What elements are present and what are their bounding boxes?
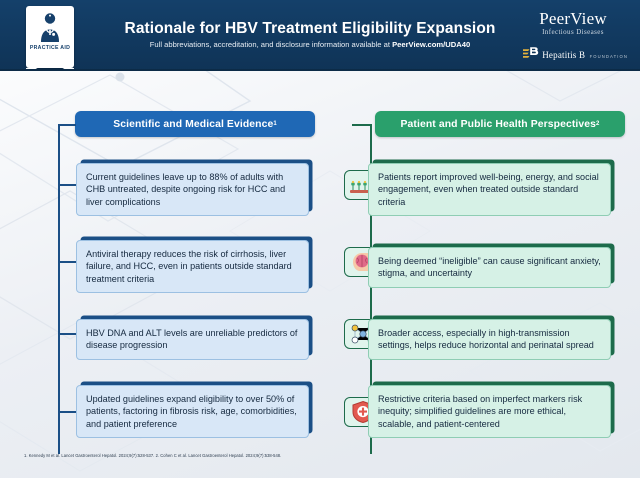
practice-aid-badge: PRACTICE AID	[26, 6, 74, 68]
column-heading-patient-label: Patient and Public Health Perspectives	[401, 119, 597, 130]
connector-stub-right	[352, 124, 372, 126]
connector-branch-left-4	[58, 411, 78, 413]
connector-trunk-left	[58, 124, 60, 454]
card-right-3: Broader access, especially in high-trans…	[368, 319, 611, 360]
reference-2: 2. Cohen C et al. Lancet Gastroenterol H…	[156, 453, 282, 458]
card-left-4: Updated guidelines expand eligibility to…	[76, 385, 309, 438]
hbf-wordmark: Hepatitis B FOUNDATION	[542, 45, 628, 63]
content-area: Scientific and Medical Evidence1	[0, 71, 640, 478]
reference-1: 1. Kennedy M et al. Lancet Gastroenterol…	[24, 453, 154, 458]
card-left-1: Current guidelines leave up to 88% of ad…	[76, 163, 309, 216]
connector-branch-left-3	[58, 333, 78, 335]
header-subtitle: Full abbreviations, accreditation, and d…	[110, 40, 510, 49]
column-heading-patient-sup: 2	[596, 121, 599, 127]
column-heading-patient: Patient and Public Health Perspectives2	[375, 111, 625, 137]
doctor-icon	[37, 11, 63, 43]
footer-references: 1. Kennedy M et al. Lancet Gastroenterol…	[24, 453, 614, 458]
card-left-3: HBV DNA and ALT levels are unreliable pr…	[76, 319, 309, 360]
column-heading-scientific-sup: 1	[273, 121, 276, 127]
card-right-1: Patients report improved well-being, ene…	[368, 163, 611, 216]
column-heading-scientific-label: Scientific and Medical Evidence	[113, 119, 273, 130]
card-right-4: Restrictive criteria based on imperfect …	[368, 385, 611, 438]
hbf-mark-icon	[522, 46, 539, 62]
header-subtitle-url: PeerView.com/UDA40	[392, 40, 470, 49]
card-left-2: Antiviral therapy reduces the risk of ci…	[76, 240, 309, 293]
column-heading-scientific: Scientific and Medical Evidence1	[75, 111, 315, 137]
connector-branch-left-1	[58, 184, 78, 186]
card-right-2: Being deemed “ineligible” can cause sign…	[368, 247, 611, 288]
connector-stub-left	[58, 124, 76, 126]
hbf-name: Hepatitis B	[542, 50, 585, 60]
practice-aid-label: PRACTICE AID	[30, 46, 70, 51]
column-scientific-and-medical-evidence: Scientific and Medical Evidence1	[0, 71, 320, 478]
peerview-brand-name: PeerView	[518, 10, 628, 27]
hepatitis-b-foundation-logo: Hepatitis B FOUNDATION	[518, 44, 628, 64]
header-subtitle-text: Full abbreviations, accreditation, and d…	[150, 40, 392, 49]
peerview-brand-subtitle: Infectious Diseases	[518, 28, 628, 36]
header-bar: PRACTICE AID Rationale for HBV Treatment…	[0, 0, 640, 71]
page-title: Rationale for HBV Treatment Eligibility …	[110, 20, 510, 37]
hbf-subtitle: FOUNDATION	[590, 54, 628, 59]
connector-branch-left-2	[58, 261, 78, 263]
infographic-poster: PRACTICE AID Rationale for HBV Treatment…	[0, 0, 640, 478]
peerview-logo: PeerView Infectious Diseases	[518, 10, 628, 36]
